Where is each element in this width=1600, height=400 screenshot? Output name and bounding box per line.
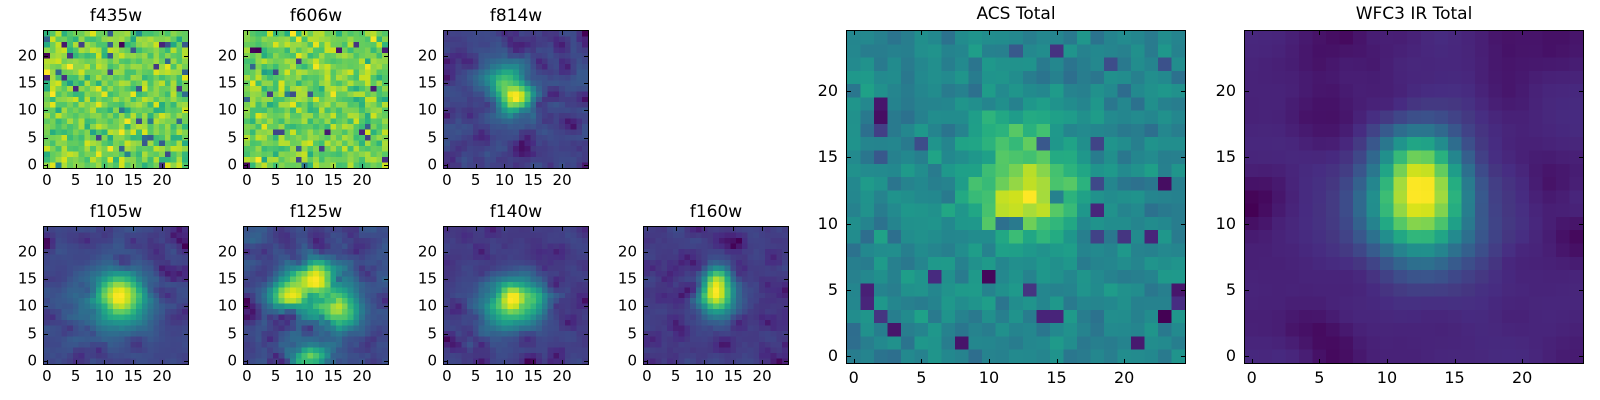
- y-axis-tick: [44, 361, 48, 362]
- x-axis-tick: [247, 227, 248, 231]
- panel-title-acs-total: ACS Total: [847, 6, 1185, 23]
- y-axis-tick: [44, 138, 48, 139]
- x-axis-tick-label: 15: [1046, 370, 1066, 386]
- y-axis-tick: [584, 83, 588, 84]
- x-axis-tick: [133, 227, 134, 231]
- y-axis-tick: [184, 56, 188, 57]
- heatmap-image-f125w: [244, 227, 388, 364]
- y-axis-tick-label: 10: [0, 299, 637, 314]
- x-axis-tick-label: 20: [353, 369, 372, 384]
- y-axis-tick: [784, 279, 788, 280]
- y-axis-tick: [1579, 290, 1583, 291]
- x-axis-tick: [104, 227, 105, 231]
- y-axis-tick: [384, 279, 388, 280]
- x-axis-tick: [989, 359, 990, 363]
- y-axis-tick: [847, 157, 851, 158]
- x-axis-tick: [333, 31, 334, 35]
- panel-f105w: f105w0055101015152020: [0, 0, 1600, 400]
- x-axis-tick: [1057, 31, 1058, 35]
- x-axis-tick-label: 15: [724, 369, 743, 384]
- y-axis-tick-label: 10: [0, 216, 1236, 232]
- x-axis-tick: [533, 360, 534, 364]
- x-axis-tick: [76, 164, 77, 168]
- x-axis-tick-label: 15: [1444, 370, 1464, 386]
- x-axis-tick: [447, 164, 448, 168]
- x-axis-tick: [247, 360, 248, 364]
- y-axis-tick-label: 20: [0, 244, 637, 259]
- x-axis-tick-label: 10: [979, 370, 999, 386]
- axes-f814w[interactable]: [443, 30, 589, 169]
- y-axis-tick-label: 0: [0, 158, 437, 173]
- y-axis-tick: [444, 252, 448, 253]
- y-axis-tick: [44, 334, 48, 335]
- y-axis-tick-label: 0: [0, 354, 237, 369]
- axes-f435w[interactable]: [43, 30, 189, 169]
- y-axis-tick-label: 0: [0, 158, 237, 173]
- y-axis-tick: [384, 56, 388, 57]
- y-axis-tick-label: 15: [0, 149, 1236, 165]
- x-axis-tick-label: 10: [295, 173, 314, 188]
- y-axis-tick: [1181, 91, 1185, 92]
- y-axis-tick: [784, 252, 788, 253]
- y-axis-tick-label: 15: [0, 76, 437, 91]
- y-axis-tick: [584, 306, 588, 307]
- x-axis-tick-label: 20: [553, 369, 572, 384]
- y-axis-tick: [1579, 91, 1583, 92]
- y-axis-tick-label: 5: [0, 130, 37, 145]
- x-axis-tick-label: 10: [95, 369, 114, 384]
- x-axis-tick: [47, 31, 48, 35]
- x-axis-tick: [276, 227, 277, 231]
- panel-f160w: f160w0055101015152020: [0, 0, 1600, 400]
- x-axis-tick: [1124, 31, 1125, 35]
- y-axis-tick: [584, 110, 588, 111]
- y-axis-tick-label: 20: [0, 244, 237, 259]
- y-axis-tick-label: 15: [0, 149, 838, 165]
- x-axis-tick: [362, 164, 363, 168]
- x-axis-tick: [504, 31, 505, 35]
- y-axis-tick: [244, 279, 248, 280]
- y-axis-tick: [384, 252, 388, 253]
- y-axis-tick-label: 5: [0, 130, 237, 145]
- y-axis-tick-label: 15: [0, 76, 237, 91]
- panel-title-f140w: f140w: [444, 204, 588, 221]
- y-axis-tick: [244, 165, 248, 166]
- y-axis-tick: [644, 361, 648, 362]
- y-axis-tick: [584, 334, 588, 335]
- y-axis-tick-label: 0: [0, 348, 838, 364]
- x-axis-tick: [76, 360, 77, 364]
- y-axis-tick: [384, 334, 388, 335]
- heatmap-image-f140w: [444, 227, 588, 364]
- x-axis-tick: [362, 227, 363, 231]
- x-axis-tick: [133, 164, 134, 168]
- y-axis-tick: [644, 306, 648, 307]
- x-axis-tick-label: 10: [95, 173, 114, 188]
- x-axis-tick: [333, 164, 334, 168]
- x-axis-tick: [104, 164, 105, 168]
- y-axis-tick-label: 5: [0, 326, 437, 341]
- x-axis-tick-label: 10: [495, 369, 514, 384]
- x-axis-tick: [47, 164, 48, 168]
- y-axis-tick: [384, 306, 388, 307]
- y-axis-tick: [44, 279, 48, 280]
- y-axis-tick: [1245, 224, 1249, 225]
- x-axis-tick-label: 0: [442, 369, 452, 384]
- y-axis-tick-label: 20: [0, 48, 37, 63]
- y-axis-tick: [444, 306, 448, 307]
- x-axis-tick: [533, 31, 534, 35]
- y-axis-tick-label: 20: [0, 244, 37, 259]
- y-axis-tick: [1181, 224, 1185, 225]
- panel-acs-total: ACS Total0055101015152020: [0, 0, 1600, 400]
- y-axis-tick: [184, 306, 188, 307]
- y-axis-tick: [244, 110, 248, 111]
- y-axis-tick: [584, 138, 588, 139]
- x-axis-tick: [362, 360, 363, 364]
- x-axis-tick: [133, 31, 134, 35]
- x-axis-tick-label: 15: [124, 369, 143, 384]
- y-axis-tick-label: 10: [0, 299, 237, 314]
- y-axis-tick-label: 0: [0, 354, 437, 369]
- y-axis-tick-label: 10: [0, 216, 838, 232]
- x-axis-tick: [762, 227, 763, 231]
- x-axis-tick-label: 5: [271, 173, 281, 188]
- y-axis-tick-label: 20: [0, 83, 838, 99]
- x-axis-tick: [333, 227, 334, 231]
- x-axis-tick-label: 15: [324, 369, 343, 384]
- x-axis-tick-label: 5: [671, 369, 681, 384]
- x-axis-tick: [989, 31, 990, 35]
- axes-f606w[interactable]: [243, 30, 389, 169]
- x-axis-tick: [704, 227, 705, 231]
- x-axis-tick: [676, 360, 677, 364]
- y-axis-tick: [444, 56, 448, 57]
- x-axis-tick-label: 20: [753, 369, 772, 384]
- panel-title-wfc3-ir-total: WFC3 IR Total: [1245, 6, 1583, 23]
- y-axis-tick-label: 10: [0, 299, 437, 314]
- x-axis-tick: [921, 359, 922, 363]
- x-axis-tick: [762, 360, 763, 364]
- panel-title-f814w: f814w: [444, 8, 588, 25]
- x-axis-tick: [1522, 31, 1523, 35]
- x-axis-tick: [504, 360, 505, 364]
- figure-canvas: f435w0055101015152020f606w00551010151520…: [0, 0, 1600, 400]
- y-axis-tick: [1579, 157, 1583, 158]
- x-axis-tick-label: 5: [1314, 370, 1324, 386]
- x-axis-tick: [276, 31, 277, 35]
- x-axis-tick: [921, 31, 922, 35]
- x-axis-tick-label: 10: [1377, 370, 1397, 386]
- x-axis-tick: [1522, 359, 1523, 363]
- y-axis-tick-label: 5: [0, 326, 237, 341]
- x-axis-tick-label: 15: [324, 173, 343, 188]
- y-axis-tick: [384, 138, 388, 139]
- y-axis-tick: [584, 279, 588, 280]
- panel-title-f105w: f105w: [44, 204, 188, 221]
- y-axis-tick: [244, 334, 248, 335]
- x-axis-tick: [476, 360, 477, 364]
- y-axis-tick-label: 5: [0, 282, 838, 298]
- x-axis-tick: [1319, 359, 1320, 363]
- y-axis-tick: [184, 110, 188, 111]
- x-axis-tick: [76, 31, 77, 35]
- x-axis-tick-label: 5: [271, 369, 281, 384]
- axes-f105w[interactable]: [43, 226, 189, 365]
- y-axis-tick-label: 0: [0, 354, 37, 369]
- y-axis-tick: [584, 361, 588, 362]
- y-axis-tick: [184, 165, 188, 166]
- y-axis-tick: [244, 138, 248, 139]
- x-axis-tick: [133, 360, 134, 364]
- y-axis-tick: [184, 252, 188, 253]
- y-axis-tick: [1245, 356, 1249, 357]
- x-axis-tick-label: 10: [695, 369, 714, 384]
- x-axis-tick: [504, 164, 505, 168]
- panel-f435w: f435w0055101015152020: [0, 0, 1600, 400]
- y-axis-tick-label: 15: [0, 76, 37, 91]
- panel-title-f160w: f160w: [644, 204, 788, 221]
- x-axis-tick: [1124, 359, 1125, 363]
- x-axis-tick: [476, 227, 477, 231]
- panel-title-f435w: f435w: [44, 8, 188, 25]
- heatmap-image-f435w: [44, 31, 188, 168]
- x-axis-tick: [447, 227, 448, 231]
- x-axis-tick: [1057, 359, 1058, 363]
- y-axis-tick-label: 10: [0, 299, 37, 314]
- x-axis-tick-label: 5: [916, 370, 926, 386]
- x-axis-tick: [304, 31, 305, 35]
- panel-f814w: f814w0055101015152020: [0, 0, 1600, 400]
- x-axis-tick: [447, 31, 448, 35]
- x-axis-tick: [1252, 359, 1253, 363]
- x-axis-tick: [854, 359, 855, 363]
- x-axis-tick: [476, 31, 477, 35]
- y-axis-tick-label: 10: [0, 103, 37, 118]
- x-axis-tick-label: 20: [553, 173, 572, 188]
- x-axis-tick: [276, 360, 277, 364]
- y-axis-tick: [584, 252, 588, 253]
- y-axis-tick: [847, 356, 851, 357]
- y-axis-tick: [444, 165, 448, 166]
- y-axis-tick: [44, 165, 48, 166]
- x-axis-tick: [533, 227, 534, 231]
- x-axis-tick-label: 10: [295, 369, 314, 384]
- x-axis-tick: [562, 164, 563, 168]
- axes-wfc3-ir-total[interactable]: [1244, 30, 1584, 364]
- y-axis-tick: [384, 83, 388, 84]
- y-axis-tick: [184, 138, 188, 139]
- y-axis-tick: [1181, 356, 1185, 357]
- panel-f140w: f140w0055101015152020: [0, 0, 1600, 400]
- x-axis-tick: [162, 227, 163, 231]
- x-axis-tick-label: 0: [42, 369, 52, 384]
- y-axis-tick: [1579, 224, 1583, 225]
- y-axis-tick: [44, 56, 48, 57]
- x-axis-tick: [1319, 31, 1320, 35]
- panel-wfc3-ir-total: WFC3 IR Total0055101015152020: [0, 0, 1600, 400]
- x-axis-tick: [562, 227, 563, 231]
- x-axis-tick-label: 5: [71, 173, 81, 188]
- x-axis-tick: [1387, 31, 1388, 35]
- x-axis-tick: [733, 227, 734, 231]
- x-axis-tick-label: 0: [242, 369, 252, 384]
- axes-f140w[interactable]: [443, 226, 589, 365]
- y-axis-tick: [644, 279, 648, 280]
- y-axis-tick-label: 15: [0, 272, 37, 287]
- y-axis-tick: [784, 361, 788, 362]
- x-axis-tick: [1252, 31, 1253, 35]
- y-axis-tick: [444, 138, 448, 139]
- y-axis-tick-label: 20: [0, 244, 437, 259]
- y-axis-tick: [644, 252, 648, 253]
- axes-f125w[interactable]: [243, 226, 389, 365]
- y-axis-tick-label: 5: [0, 326, 37, 341]
- x-axis-tick: [533, 164, 534, 168]
- x-axis-tick: [304, 164, 305, 168]
- y-axis-tick: [44, 306, 48, 307]
- heatmap-image-acs-total: [847, 31, 1185, 363]
- y-axis-tick: [44, 252, 48, 253]
- y-axis-tick: [784, 334, 788, 335]
- x-axis-tick-label: 20: [153, 369, 172, 384]
- y-axis-tick: [244, 252, 248, 253]
- y-axis-tick: [847, 224, 851, 225]
- x-axis-tick-label: 0: [42, 173, 52, 188]
- y-axis-tick: [1181, 157, 1185, 158]
- y-axis-tick-label: 0: [0, 354, 637, 369]
- y-axis-tick: [1181, 290, 1185, 291]
- x-axis-tick-label: 20: [1512, 370, 1532, 386]
- x-axis-tick-label: 0: [642, 369, 652, 384]
- y-axis-tick: [444, 279, 448, 280]
- y-axis-tick: [44, 110, 48, 111]
- y-axis-tick: [384, 110, 388, 111]
- x-axis-tick: [276, 164, 277, 168]
- y-axis-tick: [644, 334, 648, 335]
- y-axis-tick-label: 5: [0, 326, 637, 341]
- x-axis-tick-label: 0: [442, 173, 452, 188]
- y-axis-tick: [384, 361, 388, 362]
- x-axis-tick: [304, 227, 305, 231]
- axes-f160w[interactable]: [643, 226, 789, 365]
- y-axis-tick: [584, 56, 588, 57]
- x-axis-tick-label: 15: [124, 173, 143, 188]
- heatmap-image-f606w: [244, 31, 388, 168]
- x-axis-tick: [162, 360, 163, 364]
- heatmap-image-f105w: [44, 227, 188, 364]
- x-axis-tick: [1455, 31, 1456, 35]
- x-axis-tick: [362, 31, 363, 35]
- x-axis-tick-label: 5: [71, 369, 81, 384]
- x-axis-tick: [647, 227, 648, 231]
- y-axis-tick: [444, 110, 448, 111]
- x-axis-tick: [162, 164, 163, 168]
- y-axis-tick-label: 5: [0, 130, 437, 145]
- y-axis-tick: [244, 306, 248, 307]
- x-axis-tick: [104, 31, 105, 35]
- y-axis-tick: [244, 56, 248, 57]
- y-axis-tick: [584, 165, 588, 166]
- x-axis-tick: [1387, 359, 1388, 363]
- x-axis-tick: [733, 360, 734, 364]
- x-axis-tick-label: 0: [849, 370, 859, 386]
- y-axis-tick: [444, 361, 448, 362]
- y-axis-tick-label: 15: [0, 272, 637, 287]
- x-axis-tick: [1455, 359, 1456, 363]
- y-axis-tick: [784, 306, 788, 307]
- y-axis-tick: [1245, 157, 1249, 158]
- y-axis-tick-label: 10: [0, 103, 437, 118]
- y-axis-tick-label: 15: [0, 272, 437, 287]
- x-axis-tick-label: 0: [242, 173, 252, 188]
- x-axis-tick-label: 10: [495, 173, 514, 188]
- y-axis-tick: [444, 83, 448, 84]
- x-axis-tick: [447, 360, 448, 364]
- y-axis-tick: [847, 91, 851, 92]
- y-axis-tick-label: 10: [0, 103, 237, 118]
- x-axis-tick: [704, 360, 705, 364]
- x-axis-tick-label: 20: [153, 173, 172, 188]
- x-axis-tick: [76, 227, 77, 231]
- y-axis-tick: [244, 83, 248, 84]
- x-axis-tick: [647, 360, 648, 364]
- x-axis-tick-label: 0: [1247, 370, 1257, 386]
- y-axis-tick: [384, 165, 388, 166]
- y-axis-tick: [1245, 91, 1249, 92]
- y-axis-tick: [444, 334, 448, 335]
- panel-title-f606w: f606w: [244, 8, 388, 25]
- y-axis-tick: [184, 279, 188, 280]
- x-axis-tick: [104, 360, 105, 364]
- x-axis-tick: [562, 31, 563, 35]
- y-axis-tick-label: 20: [0, 48, 437, 63]
- panel-title-f125w: f125w: [244, 204, 388, 221]
- heatmap-image-f814w: [444, 31, 588, 168]
- y-axis-tick: [244, 361, 248, 362]
- x-axis-tick-label: 20: [353, 173, 372, 188]
- x-axis-tick-label: 15: [524, 173, 543, 188]
- x-axis-tick: [47, 360, 48, 364]
- x-axis-tick: [247, 164, 248, 168]
- y-axis-tick-label: 0: [0, 158, 37, 173]
- y-axis-tick-label: 5: [0, 282, 1236, 298]
- heatmap-image-f160w: [644, 227, 788, 364]
- y-axis-tick: [847, 290, 851, 291]
- x-axis-tick: [247, 31, 248, 35]
- y-axis-tick-label: 20: [0, 83, 1236, 99]
- y-axis-tick: [184, 334, 188, 335]
- x-axis-tick: [854, 31, 855, 35]
- x-axis-tick-label: 20: [1114, 370, 1134, 386]
- x-axis-tick: [47, 227, 48, 231]
- y-axis-tick-label: 0: [0, 348, 1236, 364]
- x-axis-tick: [476, 164, 477, 168]
- axes-acs-total[interactable]: [846, 30, 1186, 364]
- x-axis-tick-label: 5: [471, 173, 481, 188]
- panel-f606w: f606w0055101015152020: [0, 0, 1600, 400]
- y-axis-tick: [1245, 290, 1249, 291]
- y-axis-tick: [184, 83, 188, 84]
- y-axis-tick: [44, 83, 48, 84]
- y-axis-tick: [184, 361, 188, 362]
- x-axis-tick-label: 5: [471, 369, 481, 384]
- panel-f125w: f125w0055101015152020: [0, 0, 1600, 400]
- x-axis-tick: [504, 227, 505, 231]
- x-axis-tick: [333, 360, 334, 364]
- y-axis-tick-label: 20: [0, 48, 237, 63]
- heatmap-image-wfc3-ir-total: [1245, 31, 1583, 363]
